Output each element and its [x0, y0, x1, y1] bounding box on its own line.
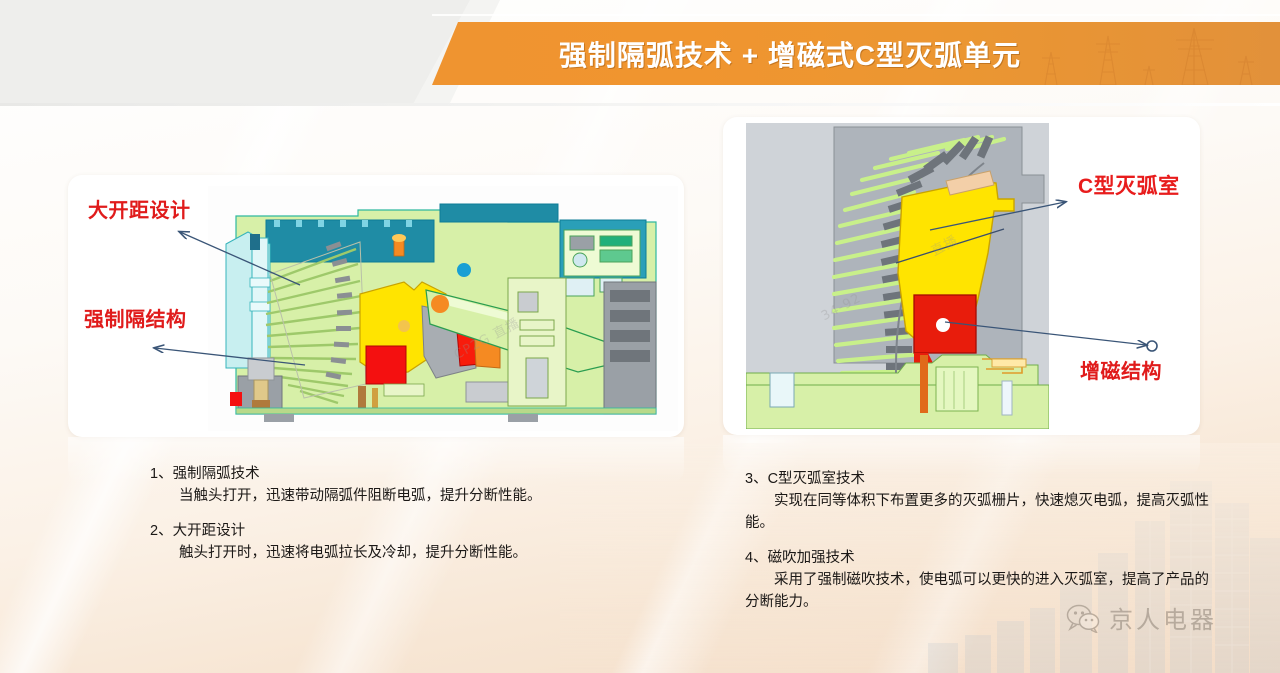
- header-band: 强制隔弧技术 + 增磁式C型灭弧单元: [0, 0, 1280, 108]
- page-title: 强制隔弧技术 + 增磁式C型灭弧单元: [470, 22, 1110, 85]
- note-title: 3、C型灭弧室技术: [745, 468, 1215, 490]
- note-body: 触头打开时，迅速将电弧拉长及冷却，提升分断性能。: [150, 542, 620, 564]
- brand-name: 京人电器: [1109, 600, 1217, 635]
- header-top-hairline: [432, 14, 1280, 16]
- note-title: 1、强制隔弧技术: [150, 463, 620, 485]
- callout-magnetizing-structure: 增磁结构: [1080, 355, 1162, 384]
- note-number: 3、: [745, 471, 768, 487]
- note-number: 2、: [150, 523, 173, 539]
- header-bottom-hairline: [0, 103, 1280, 106]
- note-title: 2、大开距设计: [150, 520, 620, 542]
- note-title-text: 磁吹加强技术: [768, 550, 855, 566]
- note-item: 1、强制隔弧技术 当触头打开，迅速带动隔弧件阻断电弧，提升分断性能。: [150, 463, 620, 507]
- wechat-icon: [1066, 603, 1100, 633]
- footer-brand: 京人电器: [1066, 600, 1217, 635]
- slide-root: 强制隔弧技术 + 增磁式C型灭弧单元: [0, 0, 1280, 673]
- note-body: 实现在同等体积下布置更多的灭弧栅片，快速熄灭电弧，提高灭弧性能。: [745, 490, 1215, 534]
- breaker-cross-section-diagram: [208, 186, 678, 431]
- callout-forced-isolation-structure: 强制隔结构: [84, 303, 187, 332]
- callout-c-type-arc-chamber: C型灭弧室: [1078, 170, 1180, 200]
- note-item: 3、C型灭弧室技术 实现在同等体积下布置更多的灭弧栅片，快速熄灭电弧，提高灭弧性…: [745, 468, 1215, 534]
- header-gray-shape: [0, 0, 470, 103]
- note-number: 4、: [745, 550, 768, 566]
- note-title: 4、磁吹加强技术: [745, 547, 1215, 569]
- note-title-text: 强制隔弧技术: [173, 466, 260, 482]
- notes-left: 1、强制隔弧技术 当触头打开，迅速带动隔弧件阻断电弧，提升分断性能。 2、大开距…: [150, 463, 620, 577]
- note-item: 2、大开距设计 触头打开时，迅速将电弧拉长及冷却，提升分断性能。: [150, 520, 620, 564]
- note-body: 当触头打开，迅速带动隔弧件阻断电弧，提升分断性能。: [150, 485, 620, 507]
- c-arc-chamber-detail-diagram: [746, 123, 1049, 429]
- note-title-text: C型灭弧室技术: [768, 471, 865, 487]
- note-title-text: 大开距设计: [173, 523, 246, 539]
- note-number: 1、: [150, 466, 173, 482]
- callout-big-open-design: 大开距设计: [88, 194, 191, 223]
